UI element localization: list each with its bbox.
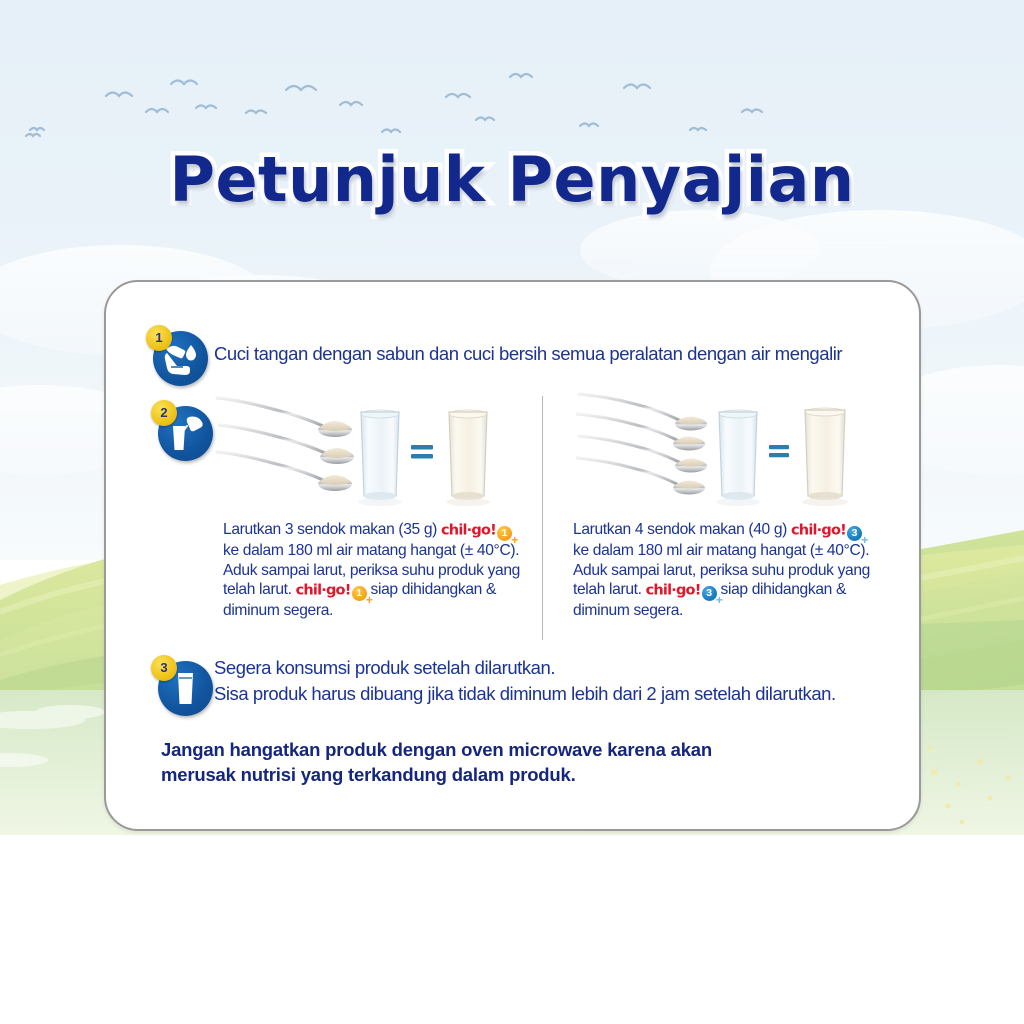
variant-badge: 1+ [497, 526, 512, 541]
chilgo-logo: chil·go! [441, 522, 496, 542]
equals-sign [769, 445, 789, 457]
variant-badge: 3+ [702, 586, 717, 601]
para-line-5: diminum segera. [573, 602, 683, 619]
step-number-badge: 1 [146, 325, 172, 351]
column-divider [542, 396, 543, 640]
plus-icon: + [861, 534, 868, 546]
step-3-line-1: Segera konsumsi produk setelah dilarutka… [214, 655, 914, 681]
serving-column-right: Larutkan 4 sendok makan (40 g) chil·go!3… [571, 390, 876, 508]
para-line-2: ke dalam 180 ml air matang hangat (± 40°… [223, 542, 519, 559]
chilgo-logo: chil·go! [791, 522, 846, 542]
para-line-5: diminum segera. [223, 602, 333, 619]
step-3-icon: 3 [151, 655, 213, 717]
bottom-white-strip [0, 835, 1024, 1024]
serving-paragraph-right: Larutkan 4 sendok makan (40 g) chil·go!3… [573, 520, 878, 621]
para-line-4-post: siap dihidangkan & [371, 581, 496, 598]
microwave-warning: Jangan hangatkan produk dengan oven micr… [161, 737, 801, 787]
chilgo-logo: chil·go! [646, 582, 701, 602]
spoon [217, 398, 352, 437]
serving-instructions-page: Petunjuk Penyajian 1 Cuci tangan dengan … [0, 0, 1024, 1024]
mix-illustration-right [571, 390, 871, 508]
para-line-4-pre: telah larut. [573, 581, 642, 598]
water-glass [358, 410, 402, 506]
step-1-text: Cuci tangan dengan sabun dan cuci bersih… [214, 343, 904, 365]
chilgo-logo: chil·go! [296, 582, 351, 602]
para-line-1: Larutkan 3 sendok makan (35 g) [223, 521, 437, 538]
step-number-badge: 2 [151, 400, 177, 426]
para-line-1: Larutkan 4 sendok makan (40 g) [573, 521, 787, 538]
step-3-line-2: Sisa produk harus dibuang jika tidak dim… [214, 681, 914, 707]
mix-illustration-left [211, 390, 511, 508]
warning-line-2: merusak nutrisi yang terkandung dalam pr… [161, 762, 801, 787]
serving-column-left: Larutkan 3 sendok makan (35 g) chil·go!1… [211, 390, 511, 508]
bird-flock [26, 74, 762, 136]
equals-sign [411, 445, 433, 459]
para-line-4-pre: telah larut. [223, 581, 292, 598]
spoon [579, 394, 707, 431]
warning-line-1: Jangan hangatkan produk dengan oven micr… [161, 737, 801, 762]
variant-badge: 1+ [352, 586, 367, 601]
para-line-3: Aduk sampai larut, periksa suhu produk y… [573, 562, 870, 579]
step-number-badge: 3 [151, 655, 177, 681]
para-line-4-post: siap dihidangkan & [721, 581, 846, 598]
plus-icon: + [366, 594, 373, 606]
plus-icon: + [511, 534, 518, 546]
step-2-icon: 2 [151, 400, 213, 462]
para-line-3: Aduk sampai larut, periksa suhu produk y… [223, 562, 520, 579]
milk-glass [446, 410, 490, 506]
serving-paragraph-left: Larutkan 3 sendok makan (35 g) chil·go!1… [223, 520, 523, 621]
milk-glass [802, 408, 848, 506]
variant-badge: 3+ [847, 526, 862, 541]
step-3-text: Segera konsumsi produk setelah dilarutka… [214, 655, 914, 707]
water-glass [716, 410, 760, 506]
step-1-icon: 1 [146, 325, 208, 387]
para-line-2: ke dalam 180 ml air matang hangat (± 40°… [573, 542, 869, 559]
plus-icon: + [716, 594, 723, 606]
